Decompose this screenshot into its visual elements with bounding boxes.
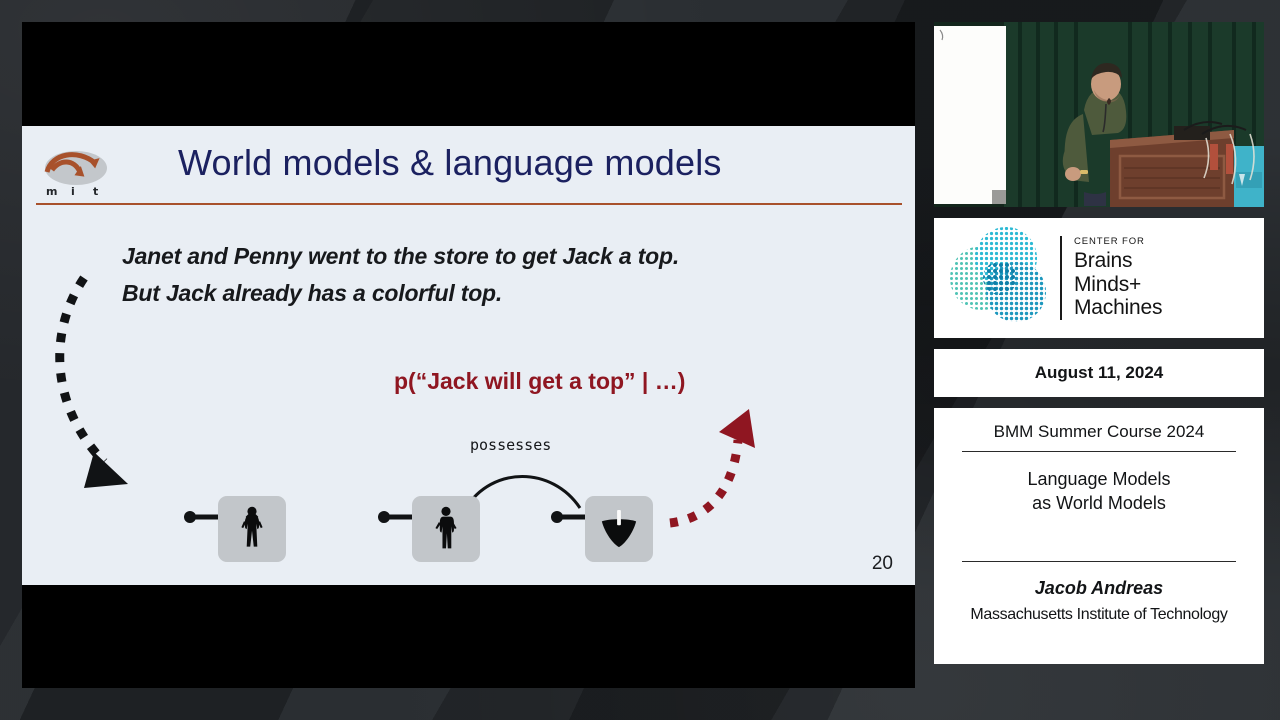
spinning-top-icon xyxy=(599,508,639,550)
cbmm-kicker: CENTER FOR xyxy=(1074,236,1162,247)
female-figure-icon xyxy=(237,506,267,552)
male-figure-icon xyxy=(431,506,461,552)
info-divider-bottom xyxy=(962,561,1236,562)
talk-title-line-2: as World Models xyxy=(956,492,1242,516)
course-name: BMM Summer Course 2024 xyxy=(956,422,1242,442)
date-panel: August 11, 2024 xyxy=(934,349,1264,397)
edge-label-possesses: possesses xyxy=(470,436,551,454)
cbmm-line-machines: Machines xyxy=(1074,296,1162,320)
black-dashed-arrow-icon xyxy=(60,278,128,488)
cbmm-line-brains: Brains xyxy=(1074,249,1162,273)
cbmm-wordmark: CENTER FOR Brains Minds+ Machines xyxy=(1060,236,1162,320)
sidebar: CENTER FOR Brains Minds+ Machines August… xyxy=(934,22,1264,675)
cbmm-line-minds: Minds+ xyxy=(1074,273,1162,297)
speaker-video-panel[interactable] xyxy=(934,22,1264,207)
cbmm-logo-panel: CENTER FOR Brains Minds+ Machines xyxy=(934,218,1264,338)
presentation-slide: m i t World models & language models Jan… xyxy=(22,126,915,585)
speaker-affiliation: Massachusetts Institute of Technology xyxy=(956,606,1242,624)
top-connector xyxy=(551,511,585,523)
janet-connector xyxy=(184,511,218,523)
jack-connector xyxy=(378,511,412,523)
info-divider-top xyxy=(962,451,1236,452)
node-box-janet xyxy=(218,496,286,562)
speaker-at-podium-image xyxy=(934,22,1264,207)
node-box-top xyxy=(585,496,653,562)
cbmm-mark-icon xyxy=(944,226,1056,330)
slide-video-stage[interactable]: m i t World models & language models Jan… xyxy=(22,22,915,688)
red-dashed-arrow-icon xyxy=(670,409,755,523)
talk-title-line-1: Language Models xyxy=(956,468,1242,492)
date-text: August 11, 2024 xyxy=(1035,363,1164,383)
node-box-jack xyxy=(412,496,480,562)
slide-number: 20 xyxy=(872,553,893,575)
speaker-name: Jacob Andreas xyxy=(956,578,1242,599)
possesses-edge xyxy=(466,477,580,509)
talk-info-panel: BMM Summer Course 2024 Language Models a… xyxy=(934,408,1264,664)
